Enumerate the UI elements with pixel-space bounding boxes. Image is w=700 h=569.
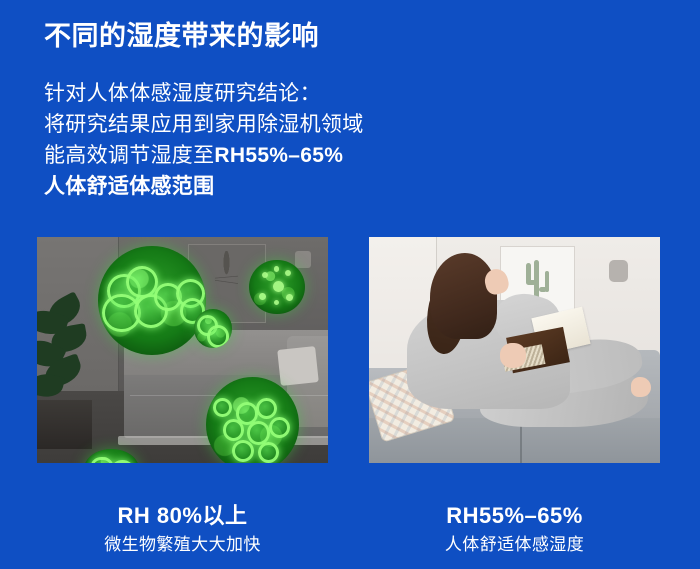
humidity-range-highlight: RH55%–65% [214,144,343,167]
germ-spike [274,300,280,305]
germ-spike [259,293,266,300]
wall-speaker-icon [609,260,628,282]
intro-paragraph: 针对人体体感湿度研究结论： 将研究结果应用到家用除湿机领域 能高效调节湿度至RH… [44,78,364,202]
germ-blob [269,417,290,438]
germ-spike [285,270,291,276]
cactus-arm [545,271,549,293]
germ-blob [256,398,277,419]
cactus-arm [526,263,530,285]
germ-blob [258,442,279,463]
germ-spike [286,294,293,301]
person-hand-holding-book [500,343,526,368]
photo-high-humidity [37,237,328,463]
page-title: 不同的湿度带来的影响 [44,19,319,53]
plant-pot [37,400,92,450]
germ-blob [207,325,229,347]
caption-subtitle: 微生物繁殖大大加快 [37,534,328,555]
germ-blob [126,266,158,298]
germ-cluster-small [249,260,304,314]
intro-line-4: 人体舒适体感范围 [44,171,364,202]
caption-subtitle: 人体舒适体感湿度 [369,534,660,555]
caption-high-humidity: RH 80%以上 微生物繁殖大大加快 [37,503,328,555]
caption-comfort-humidity: RH55%–65% 人体舒适体感湿度 [369,503,660,555]
germ-core [273,281,284,292]
germ-spike [262,272,269,279]
photo-comfort-humidity [369,237,660,463]
comfort-room-scene [369,237,660,463]
person-hair [430,253,497,339]
germ-blob [91,457,112,463]
germ-cluster-large [98,246,206,354]
germ-blob [232,440,254,462]
humidity-comparison-poster: 不同的湿度带来的影响 针对人体体感湿度研究结论： 将研究结果应用到家用除湿机领域… [0,0,700,569]
germ-room-scene [37,237,328,463]
intro-line-2: 将研究结果应用到家用除湿机领域 [44,109,364,140]
sofa-pillow [277,346,318,386]
germ-spike [274,266,280,271]
caption-title: RH 80%以上 [37,503,328,529]
germ-cluster-bottom [206,377,299,463]
intro-line-1: 针对人体体感湿度研究结论： [44,78,364,109]
intro-line-3-prefix: 能高效调节湿度至 [44,144,214,167]
caption-title: RH55%–65% [369,503,660,529]
germ-cluster-mid [194,309,232,347]
germ-blob [223,419,245,441]
intro-line-3: 能高效调节湿度至RH55%–65% [44,140,364,171]
thermostat-icon [295,251,311,268]
germ-blob [112,460,132,463]
germ-blob [213,398,232,417]
